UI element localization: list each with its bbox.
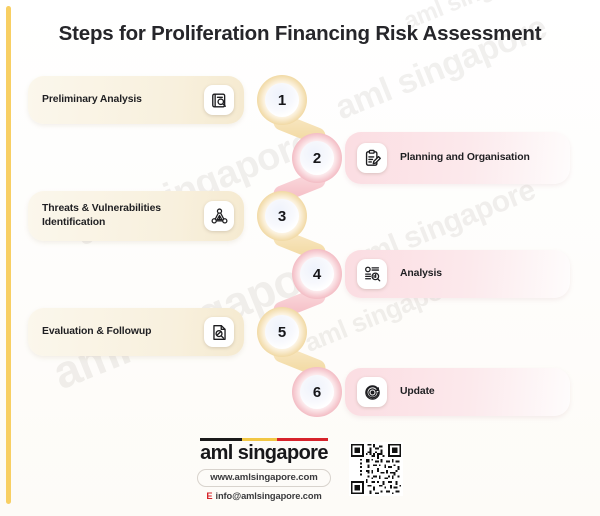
step-card-6[interactable]: Update bbox=[345, 368, 570, 416]
logo-text: aml singapore bbox=[200, 443, 328, 464]
step-card-4[interactable]: Analysis bbox=[345, 250, 570, 298]
step-number-6: 6 bbox=[293, 368, 341, 416]
email-address: info@amlsingapore.com bbox=[215, 491, 321, 501]
step-card-1[interactable]: Preliminary Analysis bbox=[28, 76, 244, 124]
step-number-5: 5 bbox=[258, 308, 306, 356]
report-magnifier-icon bbox=[204, 317, 234, 347]
step-label-3: Threats & Vulnerabilities Identification bbox=[42, 202, 204, 230]
step-label-6: Update bbox=[400, 385, 435, 399]
threat-network-icon bbox=[204, 201, 234, 231]
step-number-label: 1 bbox=[278, 92, 286, 109]
qr-code[interactable] bbox=[349, 442, 403, 496]
website-pill[interactable]: www.amlsingapore.com bbox=[197, 469, 330, 487]
infographic-canvas: aml singapore aml singapore aml singapor… bbox=[0, 0, 600, 516]
document-search-icon bbox=[204, 85, 234, 115]
step-card-3[interactable]: Threats & Vulnerabilities Identification bbox=[28, 191, 244, 241]
step-label-5: Evaluation & Followup bbox=[42, 325, 151, 339]
step-number-label: 4 bbox=[313, 266, 321, 283]
step-number-label: 5 bbox=[278, 324, 286, 341]
logo-bar-red bbox=[277, 438, 328, 442]
brand-logo: aml singapore bbox=[200, 438, 328, 464]
step-label-1: Preliminary Analysis bbox=[42, 93, 142, 107]
footer: aml singapore www.amlsingapore.com E inf… bbox=[0, 430, 600, 508]
step-number-4: 4 bbox=[293, 250, 341, 298]
step-label-4: Analysis bbox=[400, 267, 442, 281]
logo-bar-yellow bbox=[242, 438, 277, 442]
step-number-3: 3 bbox=[258, 192, 306, 240]
brand-block: aml singapore www.amlsingapore.com E inf… bbox=[197, 438, 330, 501]
logo-bar-black bbox=[200, 438, 242, 442]
logo-color-bars bbox=[200, 438, 328, 442]
refresh-target-icon bbox=[357, 377, 387, 407]
chart-magnifier-icon bbox=[357, 259, 387, 289]
step-number-label: 3 bbox=[278, 208, 286, 225]
step-card-2[interactable]: Planning and Organisation bbox=[345, 132, 570, 184]
step-number-2: 2 bbox=[293, 134, 341, 182]
step-label-2: Planning and Organisation bbox=[400, 151, 530, 165]
clipboard-pencil-icon bbox=[357, 143, 387, 173]
step-number-label: 6 bbox=[313, 384, 321, 401]
email-prefix: E bbox=[206, 491, 212, 501]
step-number-label: 2 bbox=[313, 150, 321, 167]
email-line[interactable]: E info@amlsingapore.com bbox=[206, 491, 321, 501]
step-number-1: 1 bbox=[258, 76, 306, 124]
step-card-5[interactable]: Evaluation & Followup bbox=[28, 308, 244, 356]
